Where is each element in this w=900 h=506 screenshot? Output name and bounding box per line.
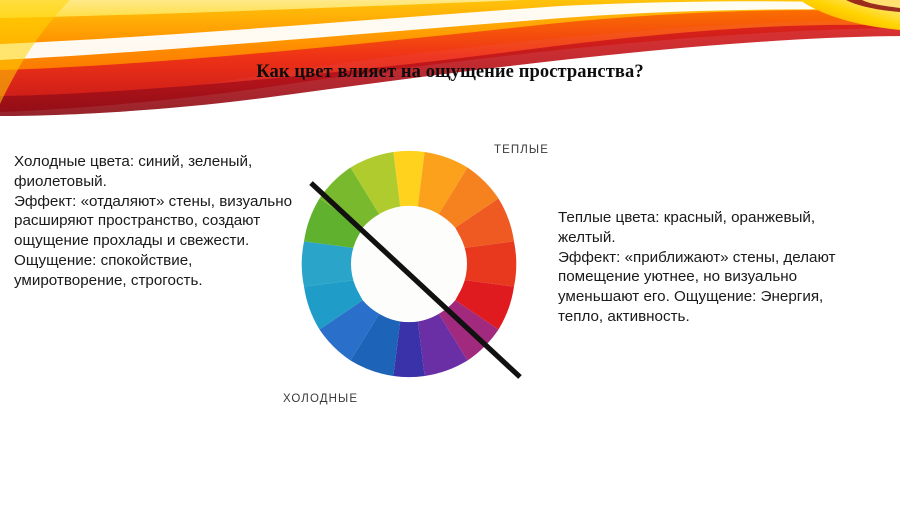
wheel-label-warm: ТЕПЛЫЕ bbox=[494, 144, 549, 156]
warm-colors-description: Теплые цвета: красный, оранжевый, желтый… bbox=[558, 208, 868, 327]
wheel-inner-circle bbox=[351, 206, 467, 322]
cool-colors-description: Холодные цвета: синий, зеленый, фиолетов… bbox=[14, 152, 304, 290]
segment-teal bbox=[302, 241, 355, 286]
wheel-label-cool: ХОЛОДНЫЕ bbox=[283, 393, 358, 405]
decorative-wave-banner bbox=[0, 0, 900, 120]
color-wheel bbox=[262, 136, 582, 416]
page-title: Как цвет влияет на ощущение пространства… bbox=[0, 62, 900, 83]
segment-red-orange bbox=[463, 241, 516, 286]
slide-canvas: Как цвет влияет на ощущение пространства… bbox=[0, 0, 900, 506]
